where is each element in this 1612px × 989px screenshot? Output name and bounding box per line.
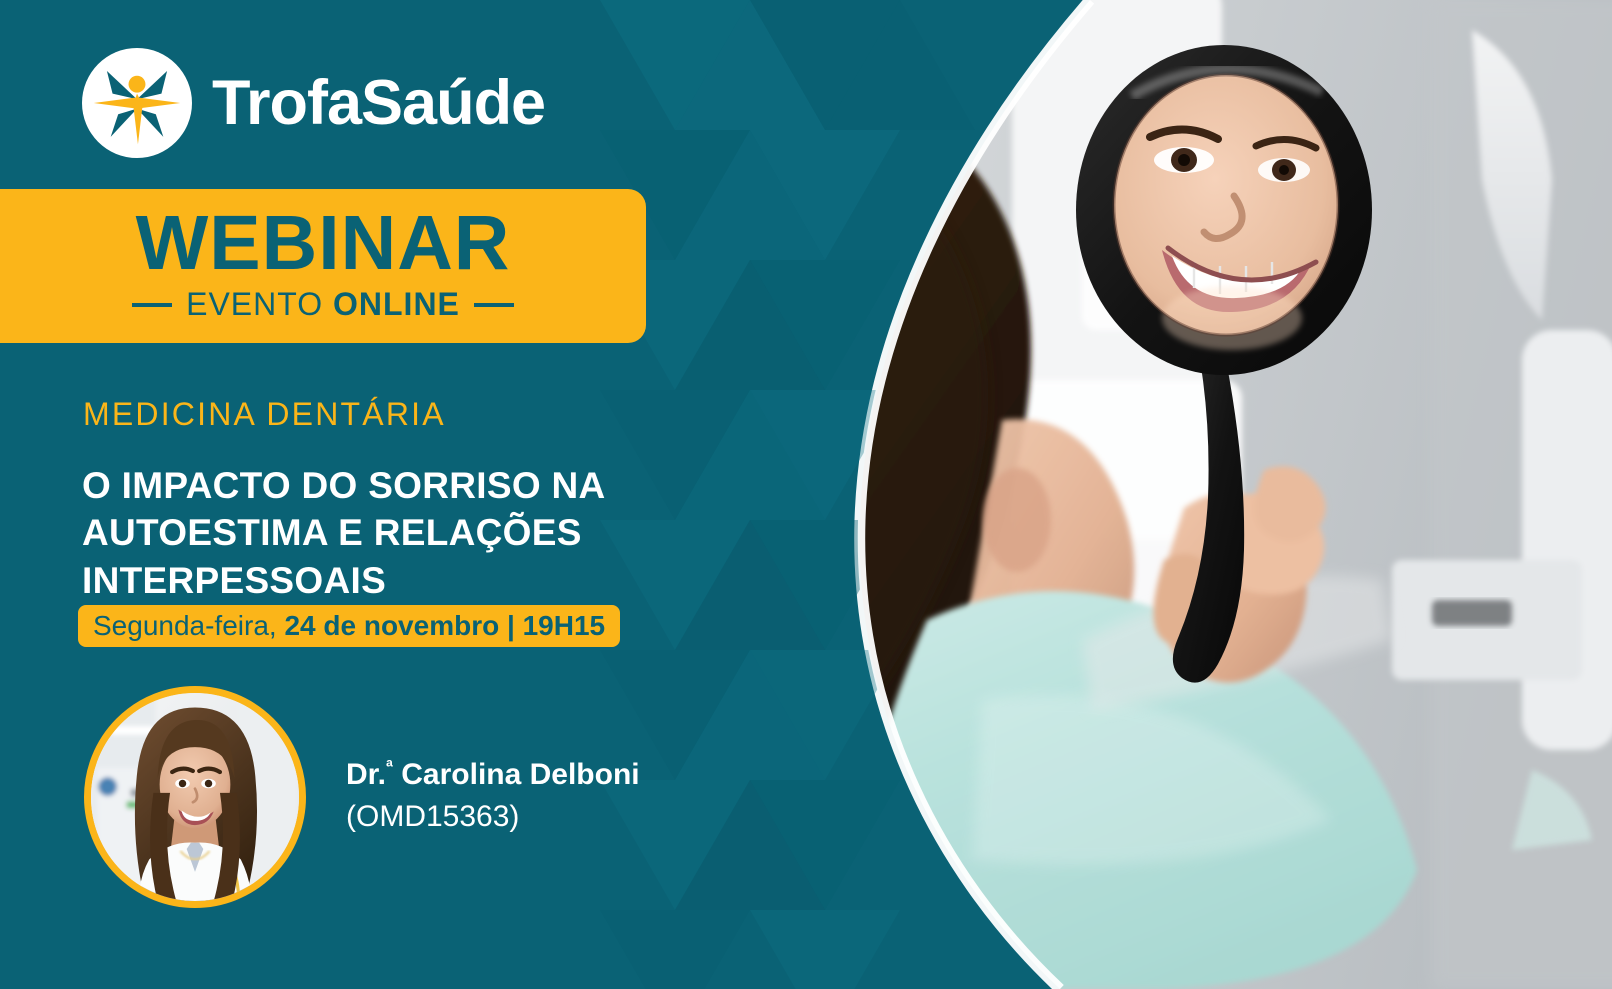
- brand-logo[interactable]: TrofaSaúde: [82, 48, 545, 158]
- banner-subtitle-regular: EVENTO: [186, 286, 333, 322]
- title-line: INTERPESSOAIS: [82, 557, 722, 604]
- speaker-name-ordinal: ª: [386, 756, 393, 777]
- date-weekday: Segunda-feira,: [93, 610, 284, 641]
- speaker-name-main: Carolina Delboni: [393, 758, 640, 791]
- page-title: O IMPACTO DO SORRISO NA AUTOESTIMA E REL…: [82, 462, 722, 604]
- webinar-banner: WEBINAR EVENTO ONLINE: [0, 189, 646, 343]
- date-badge: Segunda-feira, 24 de novembro | 19H15: [78, 605, 620, 647]
- banner-subtitle-bold: ONLINE: [333, 286, 460, 322]
- title-line: O IMPACTO DO SORRISO NA: [82, 462, 722, 509]
- webinar-poster: TrofaSaúde WEBINAR EVENTO ONLINE MEDICIN…: [0, 0, 1612, 989]
- speaker-block: Dr.ª Carolina Delboni (OMD15363): [84, 686, 640, 908]
- left-dash-icon: [132, 303, 172, 307]
- banner-subtitle-text: EVENTO ONLINE: [186, 286, 460, 323]
- speaker-name-prefix: Dr.: [346, 758, 386, 791]
- title-line: AUTOESTIMA E RELAÇÕES: [82, 509, 722, 556]
- banner-subtitle: EVENTO ONLINE: [132, 286, 514, 323]
- right-dash-icon: [474, 303, 514, 307]
- date-badge-text: Segunda-feira, 24 de novembro | 19H15: [93, 612, 605, 640]
- date-time: 24 de novembro | 19H15: [284, 610, 605, 641]
- speaker-text: Dr.ª Carolina Delboni (OMD15363): [346, 755, 640, 839]
- brand-name: TrofaSaúde: [212, 72, 545, 135]
- specialty-label: MEDICINA DENTÁRIA: [83, 396, 446, 433]
- speaker-name: Dr.ª Carolina Delboni: [346, 755, 640, 794]
- hero-photo: [832, 0, 1612, 989]
- banner-title: WEBINAR: [136, 207, 511, 280]
- speaker-registration: (OMD15363): [346, 798, 640, 836]
- starburst-person-icon: [82, 48, 192, 158]
- avatar: [84, 686, 306, 908]
